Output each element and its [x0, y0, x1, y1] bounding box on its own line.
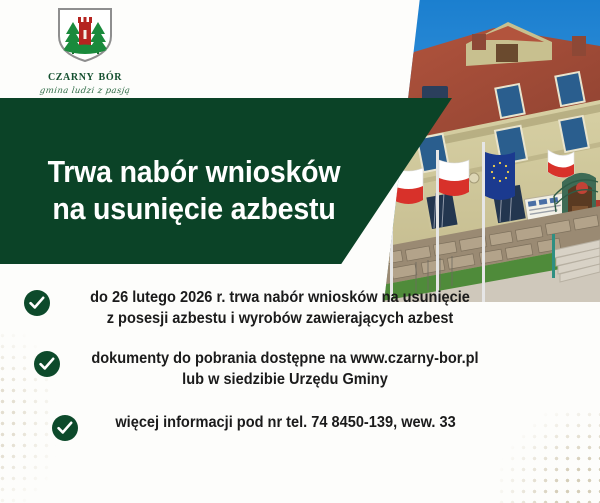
list-item: dokumenty do pobrania dostępne na www.cz…: [24, 349, 494, 391]
page-title: Trwa nabór wniosków na usunięcie azbestu: [16, 153, 373, 227]
check-circle-icon: [34, 351, 60, 377]
information-list: do 26 lutego 2026 r. trwa nabór wniosków…: [24, 288, 494, 460]
list-item: do 26 lutego 2026 r. trwa nabór wniosków…: [24, 288, 494, 330]
list-item-text: do 26 lutego 2026 r. trwa nabór wniosków…: [79, 288, 481, 330]
logo-name: Czarny Bór: [10, 68, 160, 85]
list-item-text: więcej informacji pod nr tel. 74 8450-13…: [106, 413, 482, 434]
halftone-dots-bottom-right: [496, 409, 600, 503]
logo-tagline: gmina ludzi z pasją: [9, 86, 160, 96]
list-item-text: dokumenty do pobrania dostępne na www.cz…: [89, 349, 482, 391]
poster-canvas: Czarny Bór gmina ludzi z pasją Trwa nabó…: [0, 0, 600, 503]
coat-of-arms-tower-and-firs-icon: [54, 6, 116, 64]
list-item: więcej informacji pod nr tel. 74 8450-13…: [24, 413, 494, 441]
check-circle-icon: [52, 415, 78, 441]
check-circle-icon: [24, 290, 50, 316]
czarny-bor-logo: Czarny Bór gmina ludzi z pasją: [10, 6, 160, 96]
